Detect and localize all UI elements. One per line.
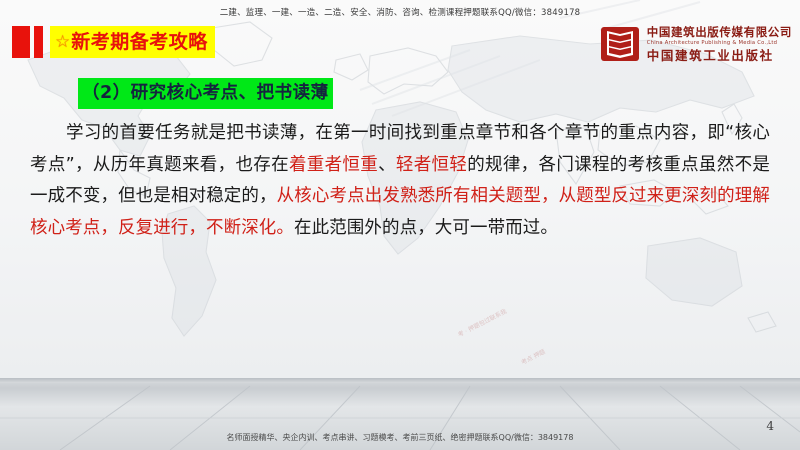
- section-subtitle: （2）研究核心考点、把书读薄: [78, 78, 333, 109]
- body-paragraph: 学习的首要任务就是把书读薄，在第一时间找到重点章节和各个章节的重点内容，即“核心…: [30, 118, 770, 244]
- body-segment-2-emphasis: 着重者恒重: [289, 155, 378, 175]
- publisher-company-cn: 中国建筑出版传媒有限公司: [647, 25, 792, 39]
- body-segment-7: 在此范围外的点，大可一带而过。: [294, 218, 558, 238]
- publisher-logo: 中国建筑出版传媒有限公司 China Architecture Publishi…: [600, 24, 792, 64]
- page-title: 新考期备考攻略: [71, 33, 208, 52]
- publisher-press-cn: 中国建筑工业出版社: [647, 48, 792, 63]
- top-contact-line: 二建、监理、一建、一造、二造、安全、消防、咨询、检测课程押题联系QQ/微信：38…: [0, 6, 800, 18]
- slide-content: （2）研究核心考点、把书读薄 学习的首要任务就是把书读薄，在第一时间找到重点章节…: [30, 78, 770, 244]
- body-segment-3: 、: [378, 155, 396, 175]
- presentation-slide: 二建、监理、一建、一造、二造、安全、消防、咨询、检测课程押题联系QQ/微信：38…: [0, 0, 800, 450]
- publisher-logo-text: 中国建筑出版传媒有限公司 China Architecture Publishi…: [647, 25, 792, 62]
- open-book-logo-icon: [600, 24, 640, 64]
- footer-contact-line: 名师面授精华、央企内训、考点串讲、习题模考、考前三页纸、绝密押题联系QQ/微信：…: [0, 432, 800, 443]
- star-icon: ☆: [55, 34, 70, 51]
- title-highlight-chip: ☆ 新考期备考攻略: [50, 26, 215, 58]
- subtitle-row: （2）研究核心考点、把书读薄: [78, 78, 770, 109]
- publisher-company-en: China Architecture Publishing & Media Co…: [647, 40, 792, 48]
- slide-title-banner: ☆ 新考期备考攻略: [12, 26, 215, 58]
- body-segment-4-emphasis: 轻者恒轻: [396, 155, 467, 175]
- red-accent-bar-narrow: [34, 26, 43, 58]
- red-accent-bar-wide: [12, 26, 30, 58]
- page-number: 4: [766, 419, 774, 433]
